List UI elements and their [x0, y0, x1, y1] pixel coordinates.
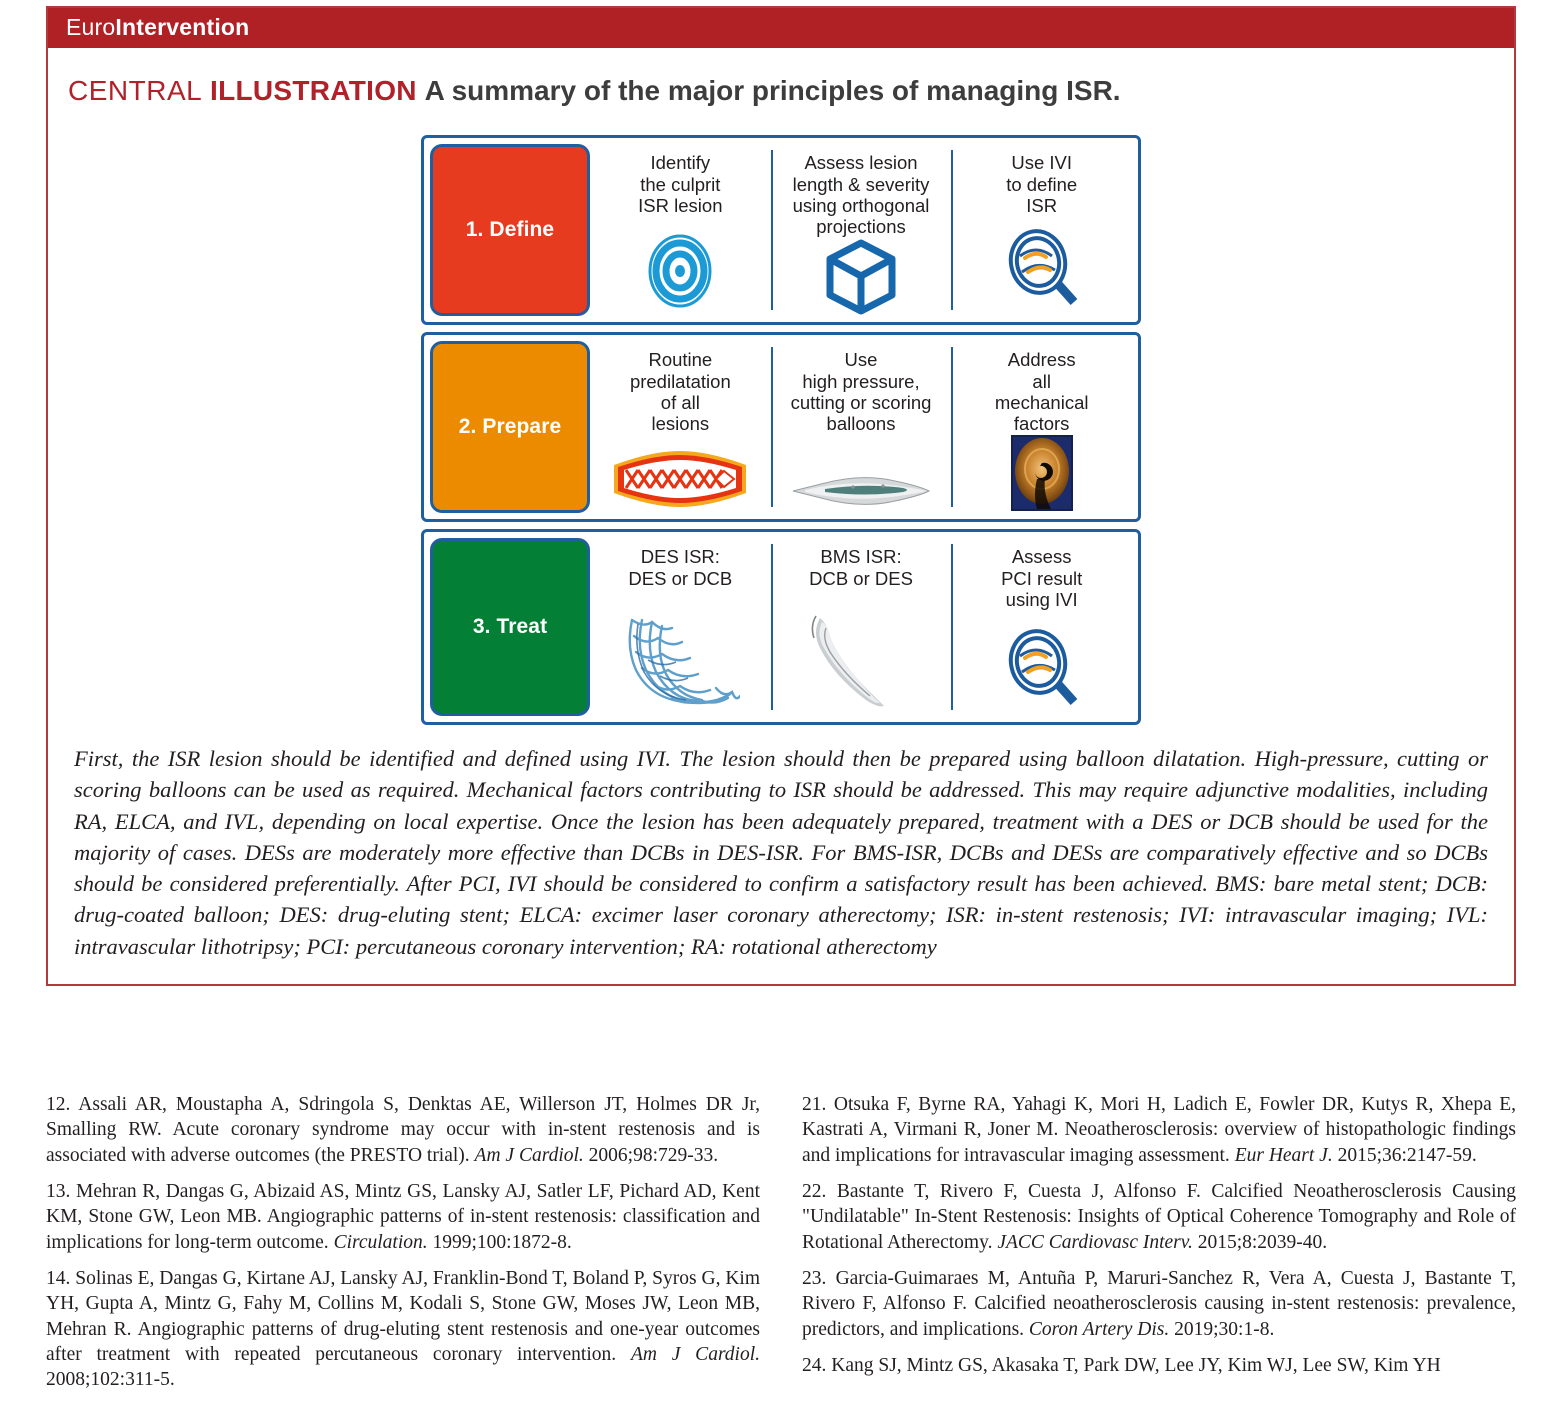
references-column-left: 12. Assali AR, Moustapha A, Sdringola S,… — [46, 1092, 760, 1393]
diagram-cell: Address all mechanical factors — [951, 341, 1132, 513]
diagram-cell: Use IVI to define ISR — [951, 144, 1132, 316]
diagram-cell: Identify the culprit ISR lesion — [590, 144, 771, 316]
reference-journal: JACC Cardiovasc Interv. — [997, 1232, 1193, 1253]
stage-label-treat: 3. Treat — [473, 615, 547, 639]
illustration-title-text: A summary of the major principles of man… — [425, 75, 1121, 106]
reference-number: 23. — [802, 1268, 826, 1289]
oct-cross-section-image-icon — [1011, 435, 1073, 511]
3d-cube-icon — [825, 238, 897, 316]
reference-item: 12. Assali AR, Moustapha A, Sdringola S,… — [46, 1092, 760, 1168]
diagram-cells-prepare: Routine predilatation of all lesions — [590, 341, 1132, 513]
stent-mesh-icon — [620, 626, 740, 710]
cutting-balloon-icon — [791, 435, 931, 507]
reference-citation: 1999;100:1872-8. — [433, 1232, 572, 1253]
diagram-cell: Routine predilatation of all lesions — [590, 341, 771, 513]
cell-text: Use IVI to define ISR — [1006, 152, 1077, 216]
cell-text: Use high pressure, cutting or scoring ba… — [791, 349, 932, 435]
reference-item: 22. Bastante T, Rivero F, Cuesta J, Alfo… — [802, 1179, 1516, 1255]
balloon-catheter-icon — [806, 626, 916, 710]
reference-citation: 2008;102:311-5. — [46, 1369, 175, 1390]
stage-box-define: 1. Define — [430, 144, 590, 316]
journal-banner: EuroIntervention — [48, 8, 1514, 48]
reference-number: 13. — [46, 1181, 70, 1202]
page-title: CENTRAL ILLUSTRATION A summary of the ma… — [48, 48, 1514, 113]
diagram-row-treat: 3. Treat DES ISR: DES or DCB — [421, 529, 1141, 725]
cell-text: BMS ISR: DCB or DES — [809, 546, 913, 589]
stage-label-define: 1. Define — [466, 218, 554, 242]
cell-text: Address all mechanical factors — [995, 349, 1089, 435]
magnifier-vessel-icon — [1000, 226, 1084, 310]
stage-label-prepare: 2. Prepare — [459, 415, 562, 439]
isr-management-diagram: 1. Define Identify the culprit ISR lesio… — [421, 135, 1141, 725]
reference-citation: 2019;30:1-8. — [1174, 1319, 1274, 1340]
reference-journal: Eur Heart J. — [1235, 1145, 1333, 1166]
label-illustration: ILLUSTRATION — [210, 75, 417, 106]
reference-journal: Am J Cardiol. — [631, 1344, 760, 1365]
reference-number: 21. — [802, 1094, 826, 1115]
reference-item: 23. Garcia-Guimaraes M, Antuña P, Maruri… — [802, 1266, 1516, 1342]
references-section: 12. Assali AR, Moustapha A, Sdringola S,… — [46, 1092, 1516, 1393]
magnifier-vessel-icon — [1000, 626, 1084, 710]
cell-text: Routine predilatation of all lesions — [630, 349, 731, 435]
reference-citation: 2015;8:2039-40. — [1198, 1232, 1327, 1253]
illustration-caption: First, the ISR lesion should be identifi… — [48, 725, 1514, 984]
cell-text: DES ISR: DES or DCB — [628, 546, 732, 589]
reference-number: 22. — [802, 1181, 826, 1202]
diagram-cell: Assess lesion length & severity using or… — [771, 144, 952, 316]
reference-number: 14. — [46, 1268, 70, 1289]
diagram-cells-treat: DES ISR: DES or DCB — [590, 538, 1132, 716]
reference-journal: Coron Artery Dis. — [1029, 1319, 1169, 1340]
journal-name-light: Euro — [66, 14, 115, 40]
diagram-cells-define: Identify the culprit ISR lesion Assess l… — [590, 144, 1132, 316]
reference-number: 24. — [802, 1355, 826, 1376]
reference-item: 14. Solinas E, Dangas G, Kirtane AJ, Lan… — [46, 1266, 760, 1393]
diagram-cell: Use high pressure, cutting or scoring ba… — [771, 341, 952, 513]
diagram-cell: Assess PCI result using IVI — [951, 538, 1132, 716]
diagram-row-define: 1. Define Identify the culprit ISR lesio… — [421, 135, 1141, 325]
stage-box-treat: 3. Treat — [430, 538, 590, 716]
reference-citation: 2015;36:2147-59. — [1338, 1145, 1477, 1166]
references-column-right: 21. Otsuka F, Byrne RA, Yahagi K, Mori H… — [802, 1092, 1516, 1393]
central-illustration-panel: EuroIntervention CENTRAL ILLUSTRATION A … — [46, 6, 1516, 986]
reference-item: 24. Kang SJ, Mintz GS, Akasaka T, Park D… — [802, 1353, 1516, 1378]
inflated-stent-balloon-icon — [612, 435, 748, 507]
reference-journal: Am J Cardiol. — [475, 1145, 584, 1166]
label-central: CENTRAL — [68, 75, 202, 106]
reference-number: 12. — [46, 1094, 70, 1115]
reference-citation: 2006;98:729-33. — [589, 1145, 718, 1166]
reference-journal: Circulation. — [334, 1232, 428, 1253]
cell-text: Assess PCI result using IVI — [1001, 546, 1082, 610]
reference-text: Kang SJ, Mintz GS, Akasaka T, Park DW, L… — [831, 1355, 1441, 1376]
stage-box-prepare: 2. Prepare — [430, 341, 590, 513]
diagram-row-prepare: 2. Prepare Routine predilatation of all … — [421, 332, 1141, 522]
reference-item: 21. Otsuka F, Byrne RA, Yahagi K, Mori H… — [802, 1092, 1516, 1168]
journal-name-bold: Intervention — [115, 14, 249, 40]
diagram-cell: DES ISR: DES or DCB — [590, 538, 771, 716]
cell-text: Identify the culprit ISR lesion — [638, 152, 722, 216]
reference-item: 13. Mehran R, Dangas G, Abizaid AS, Mint… — [46, 1179, 760, 1255]
cell-text: Assess lesion length & severity using or… — [793, 152, 930, 238]
diagram-cell: BMS ISR: DCB or DES — [771, 538, 952, 716]
bullseye-target-icon — [641, 226, 719, 310]
